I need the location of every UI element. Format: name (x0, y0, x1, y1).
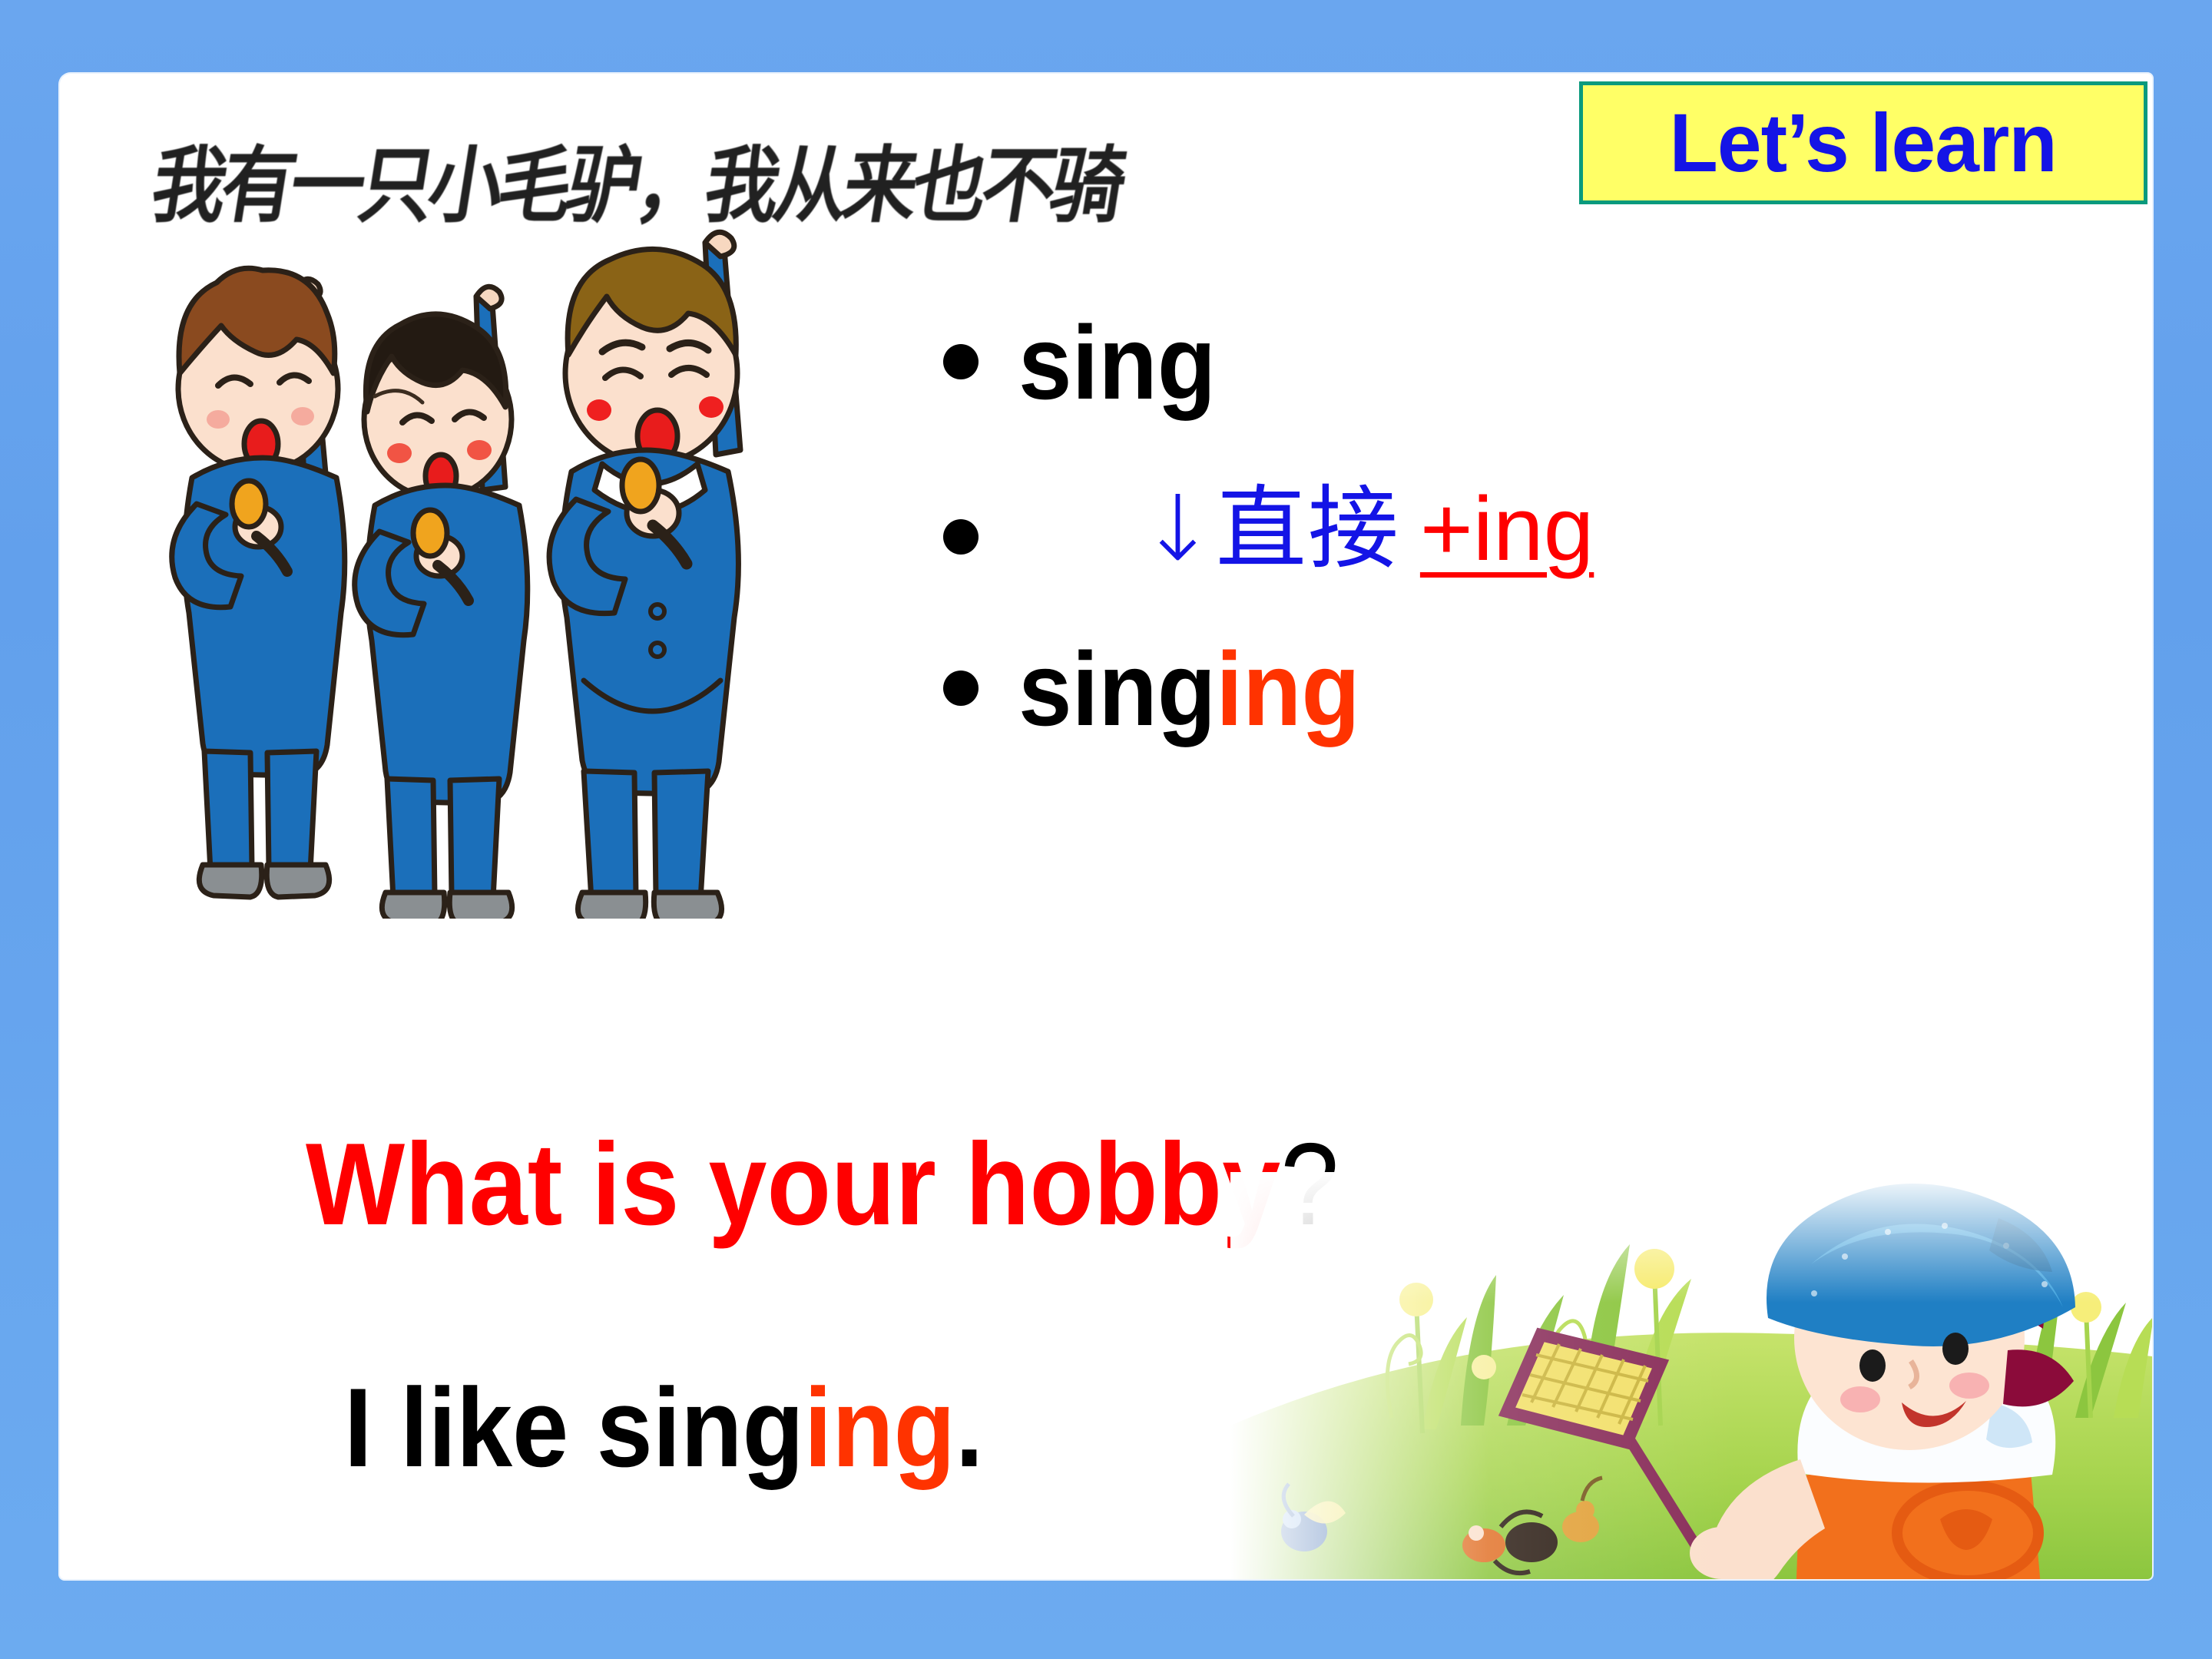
bullet-dot-icon (943, 671, 979, 706)
rule-chinese-label: 直接 (1216, 475, 1400, 581)
bullet-dot-icon (943, 519, 979, 555)
boy-scene-svg (1230, 1172, 2152, 1579)
answer-line: I like singing. (344, 1372, 983, 1484)
bullet-label-singing: singing (1018, 631, 1360, 747)
slide-canvas: Let’s learn 我有一只小毛驴，我从来也不骑 (0, 0, 2212, 1659)
word-form-bullet-list: sing ↓直接+ing singing (943, 304, 2152, 747)
handwritten-chinese-caption: 我有一只小毛驴，我从来也不骑 (137, 143, 836, 289)
singing-suffix: ing (1216, 631, 1360, 747)
three-singing-children-illustration: 我有一只小毛驴，我从来也不骑 (144, 143, 836, 919)
rule-suffix-label: +ing (1420, 478, 1594, 580)
question-line: What is your hobby? (306, 1126, 1339, 1243)
rule-expression: ↓直接+ing (1140, 479, 1594, 580)
lets-learn-badge: Let’s learn (1579, 81, 2147, 204)
boy-with-net-illustration (1230, 1172, 2152, 1579)
answer-suffix: ing (804, 1365, 955, 1490)
question-text: What is your hobby (306, 1119, 1280, 1250)
bullet-dot-icon (943, 344, 979, 379)
bullet-label-sing: sing (1018, 304, 1216, 421)
bullet-item-rule: ↓直接+ing (943, 479, 2152, 580)
down-arrow-icon: ↓ (1140, 475, 1216, 581)
slide-content-area: Let’s learn 我有一只小毛驴，我从来也不骑 (60, 74, 2152, 1579)
answer-prefix: I like sing (344, 1365, 804, 1490)
bullet-item-singing: singing (943, 631, 2152, 747)
singing-base: sing (1018, 631, 1216, 747)
bullet-item-sing: sing (943, 304, 2152, 421)
answer-period: . (955, 1365, 984, 1490)
lets-learn-label: Let’s learn (1670, 101, 2057, 184)
